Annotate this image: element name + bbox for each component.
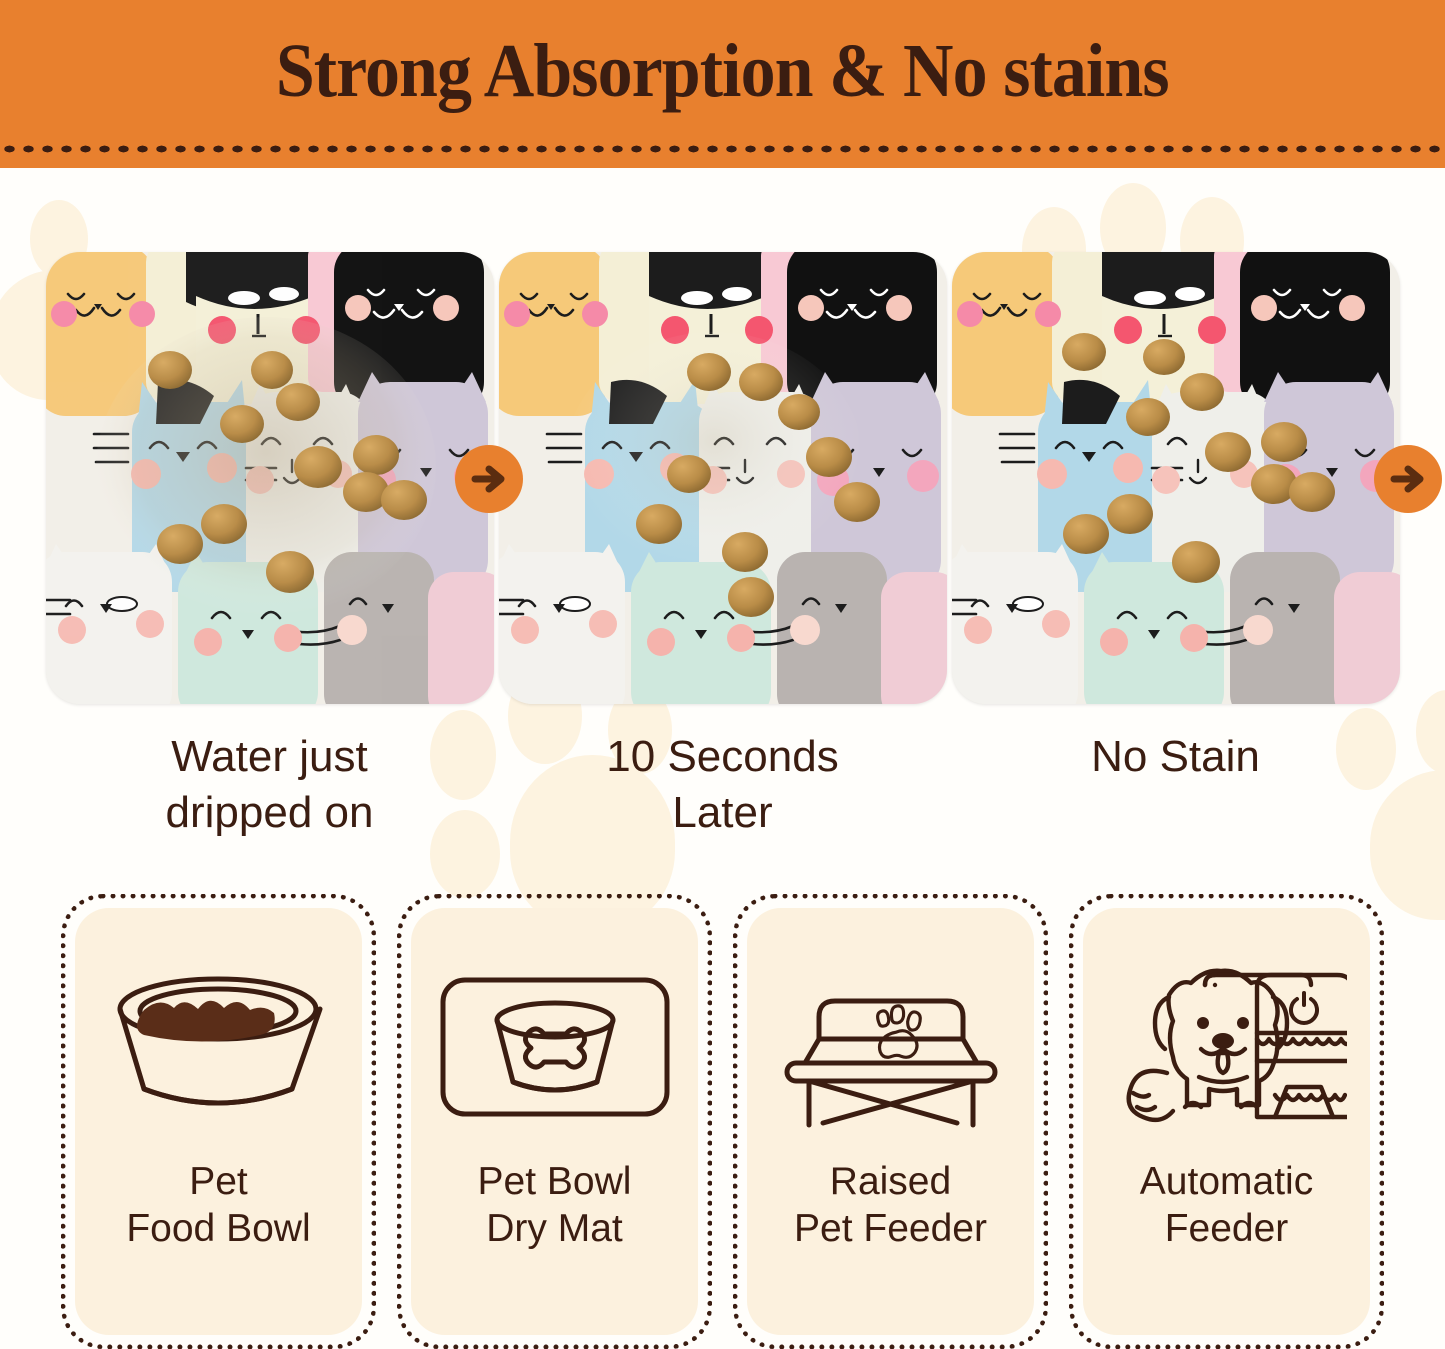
demo-captions: Water just dripped on 10 Seconds Later N… — [0, 729, 1445, 842]
use-case-label: Automatic Feeder — [1140, 1158, 1313, 1253]
use-case-cards: Pet Food Bowl Pet Bowl Dry Mat — [0, 894, 1445, 1349]
use-case-card-raised-pet-feeder[interactable]: Raised Pet Feeder — [733, 894, 1048, 1349]
demo-caption-3: No Stain — [949, 729, 1402, 842]
cat-print-mat-photo — [499, 252, 947, 704]
demo-step-1 — [43, 252, 496, 704]
use-case-label: Raised Pet Feeder — [794, 1158, 987, 1253]
demo-step-3 — [949, 252, 1402, 704]
demo-step-2 — [496, 252, 949, 704]
cat-print-mat-photo — [952, 252, 1400, 704]
arrow-right-icon — [1374, 445, 1442, 513]
header-banner: Strong Absorption & No stains — [0, 0, 1445, 168]
absorption-demo-strip — [0, 252, 1445, 707]
cat-print-mat-photo — [46, 252, 494, 704]
use-case-label: Pet Bowl Dry Mat — [478, 1158, 632, 1253]
pet-food-bowl-icon — [106, 942, 331, 1152]
use-case-card-pet-food-bowl[interactable]: Pet Food Bowl — [61, 894, 376, 1349]
pet-bowl-dry-mat-icon — [439, 942, 671, 1152]
demo-caption-1: Water just dripped on — [43, 729, 496, 842]
arrow-right-icon — [455, 445, 523, 513]
use-case-card-pet-bowl-dry-mat[interactable]: Pet Bowl Dry Mat — [397, 894, 712, 1349]
automatic-feeder-icon — [1107, 942, 1347, 1152]
raised-pet-feeder-icon — [775, 942, 1007, 1152]
demo-caption-2: 10 Seconds Later — [496, 729, 949, 842]
use-case-card-automatic-feeder[interactable]: Automatic Feeder — [1069, 894, 1384, 1349]
page-title: Strong Absorption & No stains — [276, 28, 1169, 115]
header-dotted-divider — [0, 143, 1445, 155]
use-case-label: Pet Food Bowl — [126, 1158, 310, 1253]
